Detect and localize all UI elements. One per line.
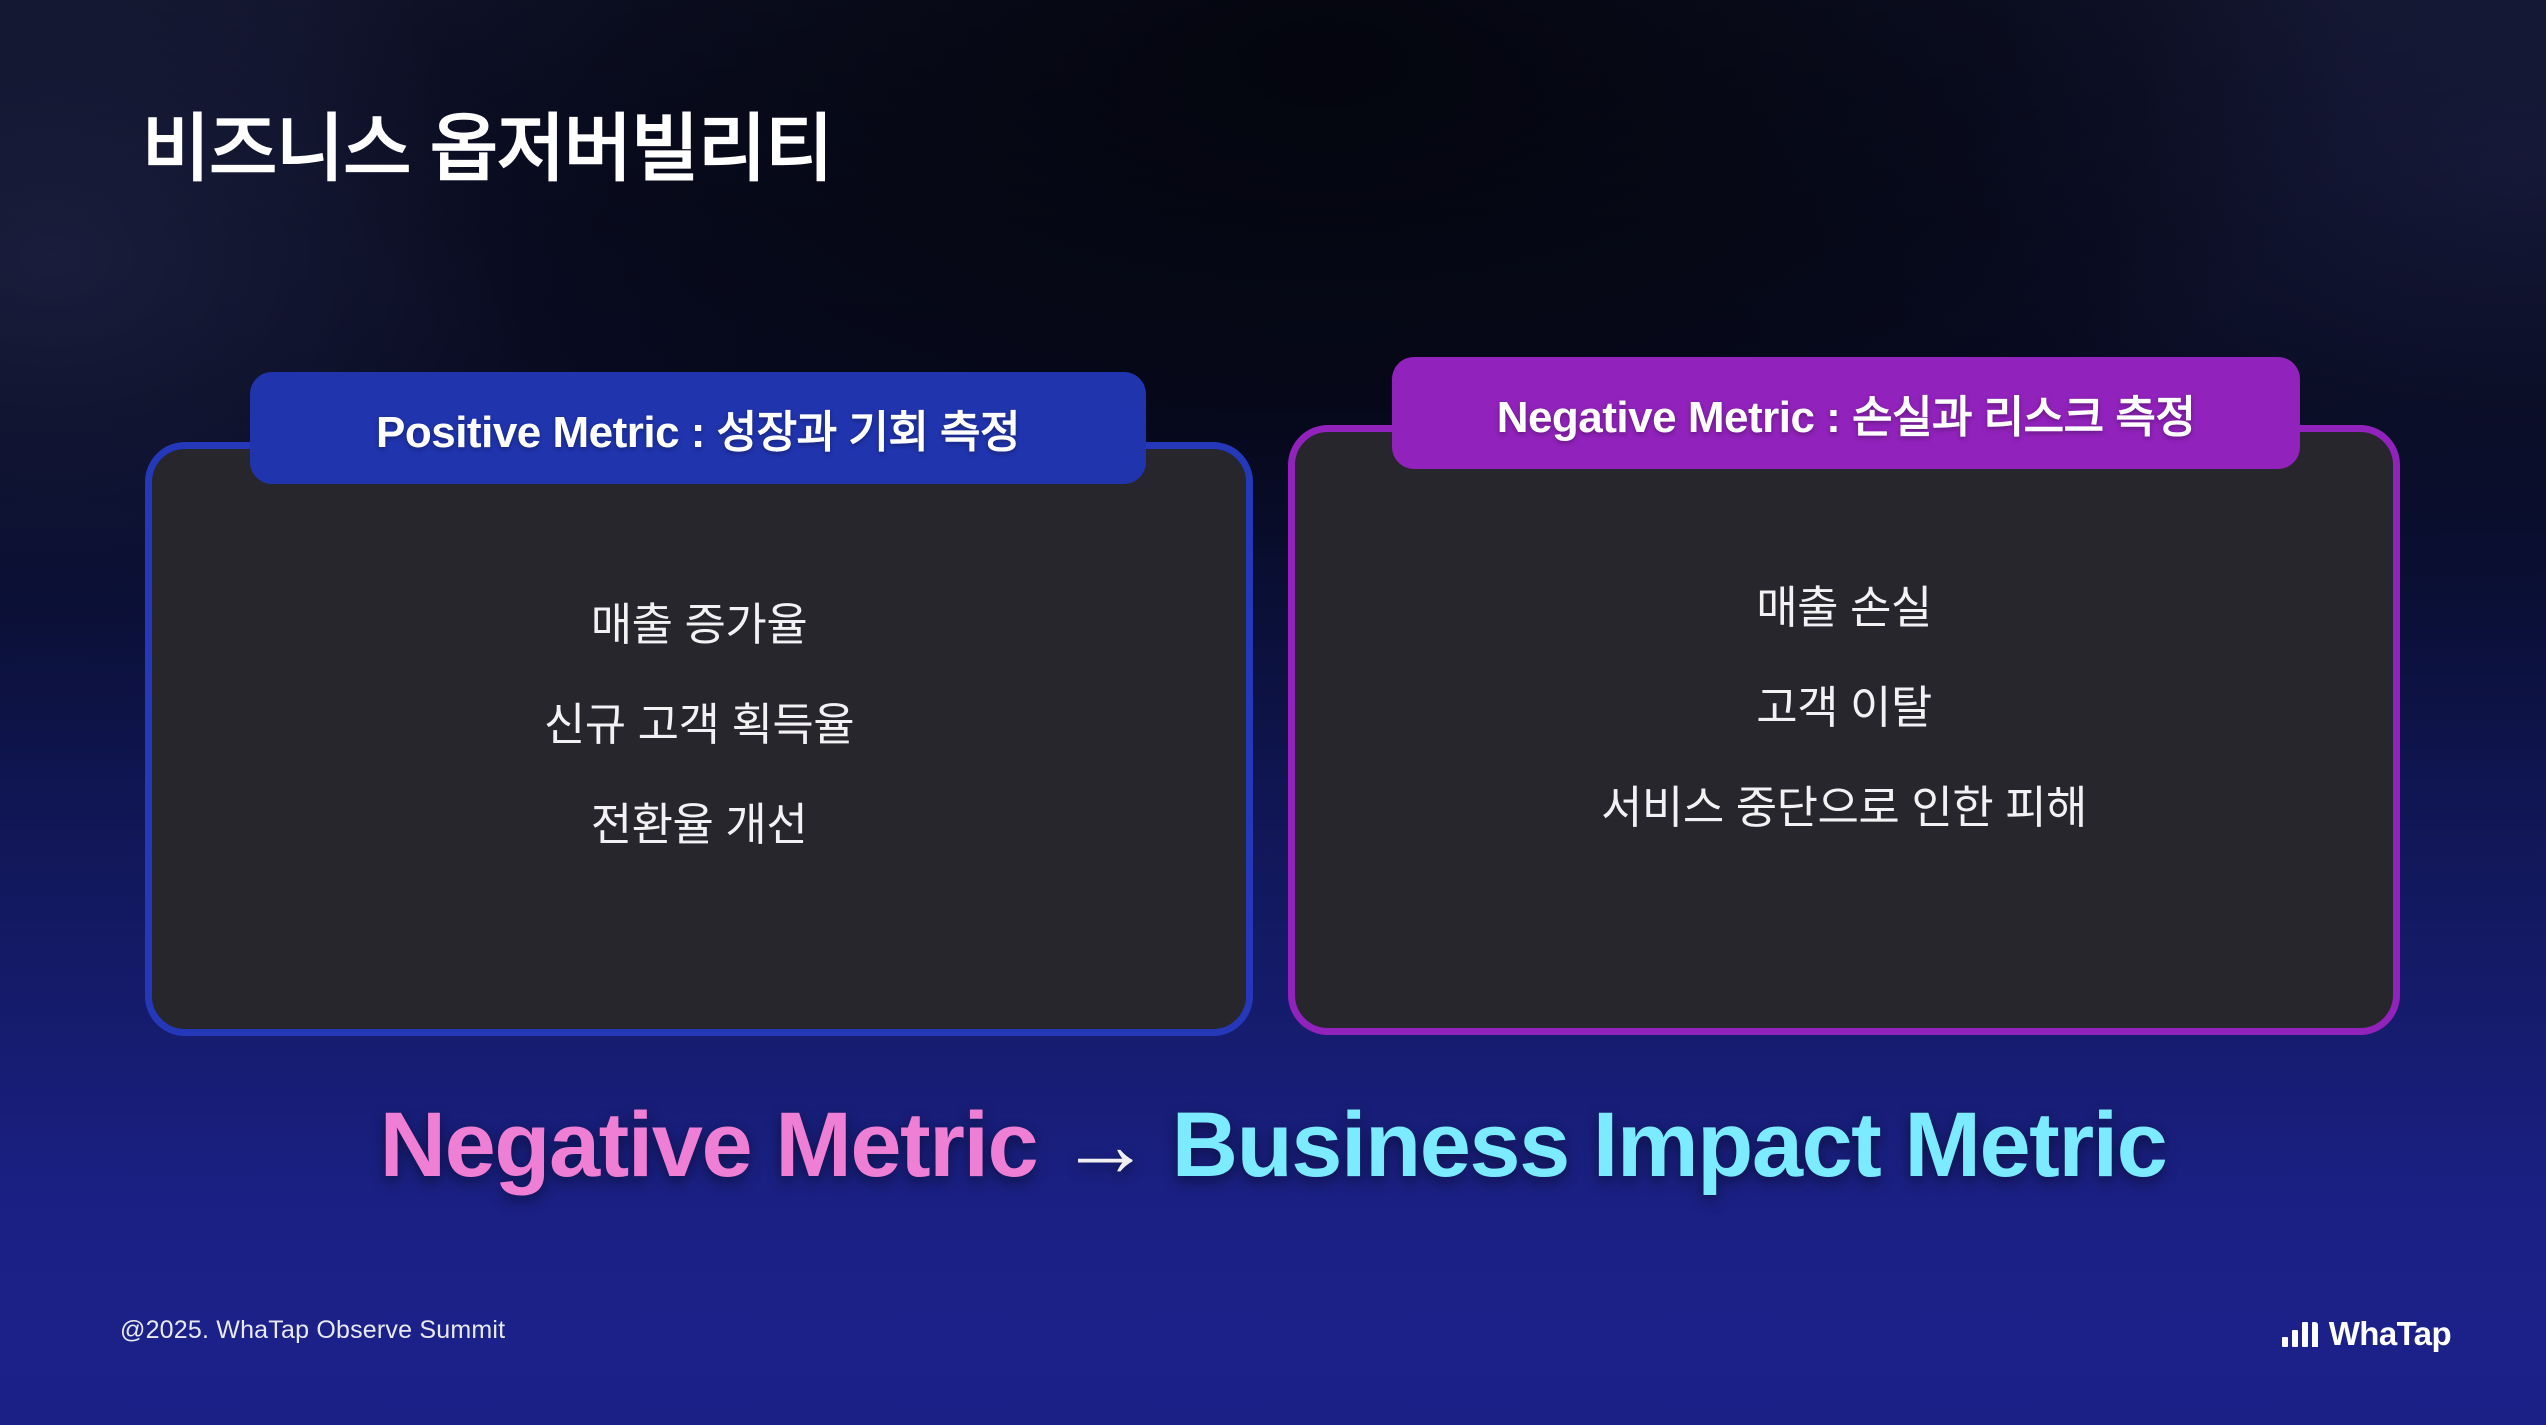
page-title: 비즈니스 옵저버빌리티 (142, 112, 832, 186)
whatap-logo-text: WhaTap (2329, 1317, 2451, 1350)
list-item: 매출 손실 (1756, 582, 1932, 634)
bar-chart-icon (2282, 1322, 2318, 1350)
slide-canvas: 비즈니스 옵저버빌리티 매출 증가율 신규 고객 획득율 전환율 개선 Posi… (0, 0, 2546, 1425)
whatap-logo: WhaTap (2282, 1310, 2451, 1350)
arrow-right-icon: → (1037, 1094, 1172, 1196)
list-item: 매출 증가율 (591, 599, 808, 651)
negative-metric-badge: Negative Metric : 손실과 리스크 측정 (1392, 357, 2300, 469)
positive-metric-card: 매출 증가율 신규 고객 획득율 전환율 개선 (145, 442, 1253, 1036)
footer-copyright: @2025. WhaTap Observe Summit (120, 1316, 505, 1345)
positive-metric-list: 매출 증가율 신규 고객 획득율 전환율 개선 (152, 599, 1246, 850)
list-item: 서비스 중단으로 인한 피해 (1601, 782, 2087, 834)
list-item: 신규 고객 획득율 (544, 699, 854, 751)
negative-metric-list: 매출 손실 고객 이탈 서비스 중단으로 인한 피해 (1295, 582, 2393, 833)
list-item: 전환율 개선 (591, 799, 808, 851)
list-item: 고객 이탈 (1756, 682, 1932, 734)
negative-metric-card: 매출 손실 고객 이탈 서비스 중단으로 인한 피해 (1288, 425, 2400, 1035)
positive-metric-badge: Positive Metric : 성장과 기회 측정 (250, 372, 1146, 484)
headline-to-text: Business Impact Metric (1172, 1094, 2167, 1196)
conclusion-headline: Negative Metric→Business Impact Metric (0, 1095, 2546, 1196)
headline-from-text: Negative Metric (380, 1094, 1038, 1196)
